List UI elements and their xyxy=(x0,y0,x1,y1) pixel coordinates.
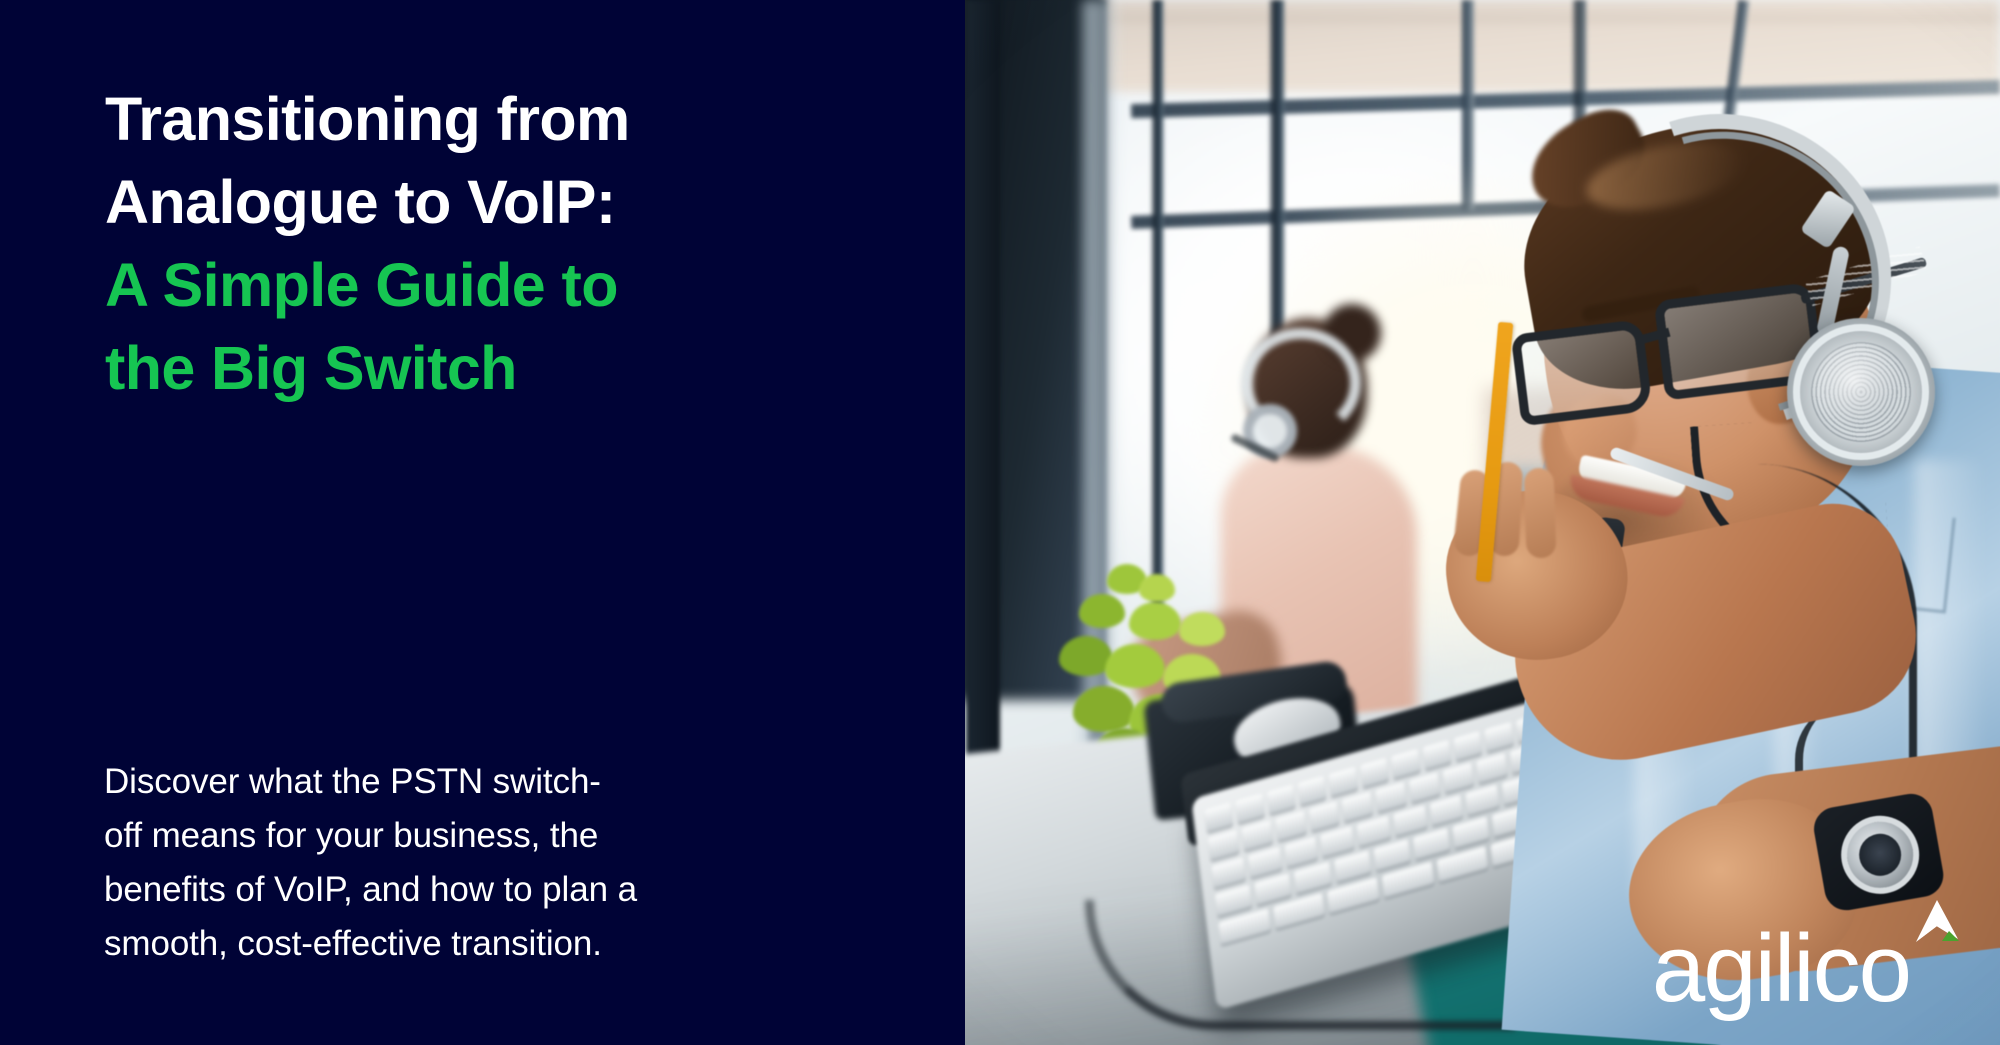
subtitle-paragraph: Discover what the PSTN switch- off means… xyxy=(104,755,824,971)
subcopy-line-3: benefits of VoIP, and how to plan a xyxy=(104,863,824,917)
agilico-arrow-icon xyxy=(1906,895,1968,957)
plant-leaf xyxy=(1073,686,1135,732)
subcopy-line-1: Discover what the PSTN switch- xyxy=(104,755,824,809)
finger xyxy=(1523,468,1556,559)
headline-line-4: the Big Switch xyxy=(105,327,825,410)
subcopy-line-2: off means for your business, the xyxy=(104,809,824,863)
left-text-panel: Transitioning from Analogue to VoIP: A S… xyxy=(0,0,965,1045)
plant-leaf xyxy=(1079,594,1125,628)
plant-leaf xyxy=(1129,602,1181,640)
headline-line-2: Analogue to VoIP: xyxy=(105,161,825,244)
plant-leaf xyxy=(1105,644,1165,688)
plant-leaf xyxy=(1179,612,1225,646)
subcopy-line-4: smooth, cost-effective transition. xyxy=(104,917,824,971)
watch-dial xyxy=(1856,830,1905,879)
brand-logo[interactable]: agilico xyxy=(1652,895,1968,1011)
marketing-banner: Transitioning from Analogue to VoIP: A S… xyxy=(0,0,2000,1045)
hero-photo: agilico xyxy=(965,0,2000,1045)
headline-line-3: A Simple Guide to xyxy=(105,244,825,327)
headline-line-1: Transitioning from xyxy=(105,78,825,161)
plant-leaf xyxy=(1139,574,1175,602)
logo-wordmark: agilico xyxy=(1652,928,1910,1011)
page-title: Transitioning from Analogue to VoIP: A S… xyxy=(105,78,825,410)
